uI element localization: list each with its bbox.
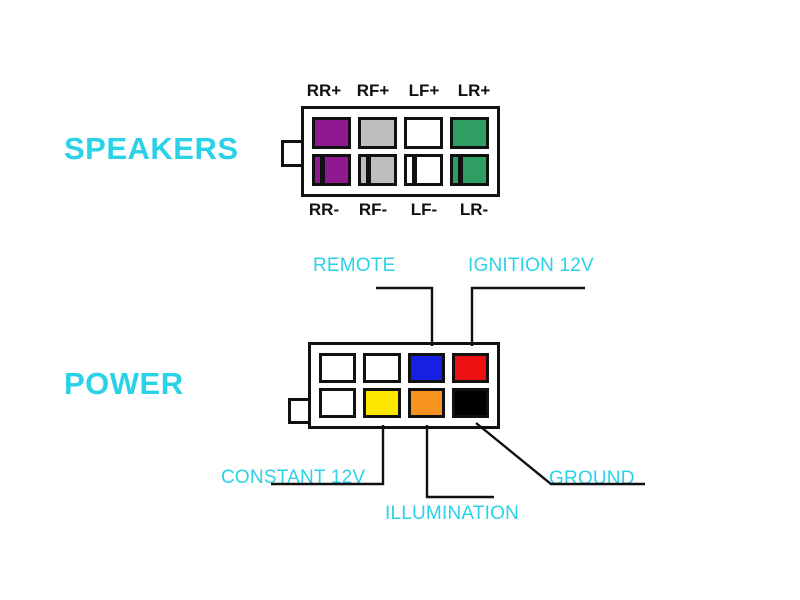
speaker-pin-lr-plus-fill (453, 120, 486, 146)
speaker-pin-lr-minus-stripe (458, 157, 463, 183)
speaker-pin-lr-plus[interactable] (450, 117, 489, 149)
speaker-pin-lf-plus[interactable] (404, 117, 443, 149)
power-pin-ground-fill (455, 391, 486, 415)
speaker-pin-lf-plus-fill (407, 120, 440, 146)
speaker-pin-rr-plus[interactable] (312, 117, 351, 149)
speaker-pin-rf-minus[interactable] (358, 154, 397, 186)
speaker-pin-label-lf-plus: LF+ (400, 81, 448, 101)
power-pin-constant-12v[interactable] (363, 388, 400, 418)
power-pin-top-1-blank[interactable] (319, 353, 356, 383)
speaker-pin-label-rr-minus: RR- (300, 200, 348, 220)
speaker-pin-rf-plus[interactable] (358, 117, 397, 149)
power-pin-bottom-1-blank[interactable] (319, 388, 356, 418)
speaker-pin-lf-minus-stripe (412, 157, 417, 183)
callout-label-ignition-12v: IGNITION 12V (468, 255, 594, 277)
speaker-connector-body (301, 106, 500, 197)
callout-label-illumination: ILLUMINATION (385, 503, 519, 525)
power-pin-ignition-12v[interactable] (452, 353, 489, 383)
speakers-section-heading: SPEAKERS (64, 131, 239, 167)
speaker-pin-rr-minus-stripe (320, 157, 325, 183)
speaker-pin-label-lr-minus: LR- (450, 200, 498, 220)
power-pin-ignition-12v-fill (455, 356, 486, 380)
speaker-pin-lr-minus[interactable] (450, 154, 489, 186)
power-connector-body (308, 342, 500, 429)
wiring-diagram-canvas: SPEAKERS RR+ RF+ LF+ LR+ (0, 0, 800, 600)
speaker-pin-label-rr-plus: RR+ (300, 81, 348, 101)
power-pin-top-2-fill (366, 356, 397, 380)
power-pin-constant-12v-fill (366, 391, 397, 415)
speaker-pin-rr-minus[interactable] (312, 154, 351, 186)
speaker-pin-label-lr-plus: LR+ (450, 81, 498, 101)
power-pin-top-1-fill (322, 356, 353, 380)
callout-label-constant-12v: CONSTANT 12V (221, 467, 365, 489)
leader-line-ignition-12v (472, 288, 585, 346)
power-pin-grid (319, 353, 489, 418)
power-pin-bottom-1-fill (322, 391, 353, 415)
power-pin-ground[interactable] (452, 388, 489, 418)
speaker-pin-rf-plus-fill (361, 120, 394, 146)
speaker-pin-grid (312, 117, 489, 186)
callout-label-ground: GROUND (549, 468, 635, 490)
speaker-pin-label-rf-plus: RF+ (349, 81, 397, 101)
callout-label-remote: REMOTE (313, 255, 395, 277)
leader-line-remote (376, 288, 432, 346)
power-pin-remote[interactable] (408, 353, 445, 383)
speaker-pin-label-rf-minus: RF- (349, 200, 397, 220)
power-section-heading: POWER (64, 366, 184, 402)
power-pin-remote-fill (411, 356, 442, 380)
speaker-pin-label-lf-minus: LF- (400, 200, 448, 220)
power-pin-illumination[interactable] (408, 388, 445, 418)
speaker-pin-rr-plus-fill (315, 120, 348, 146)
power-pin-top-2-blank[interactable] (363, 353, 400, 383)
speaker-pin-rf-minus-stripe (366, 157, 371, 183)
leader-line-illumination (427, 425, 494, 497)
speaker-pin-lf-minus[interactable] (404, 154, 443, 186)
power-pin-illumination-fill (411, 391, 442, 415)
